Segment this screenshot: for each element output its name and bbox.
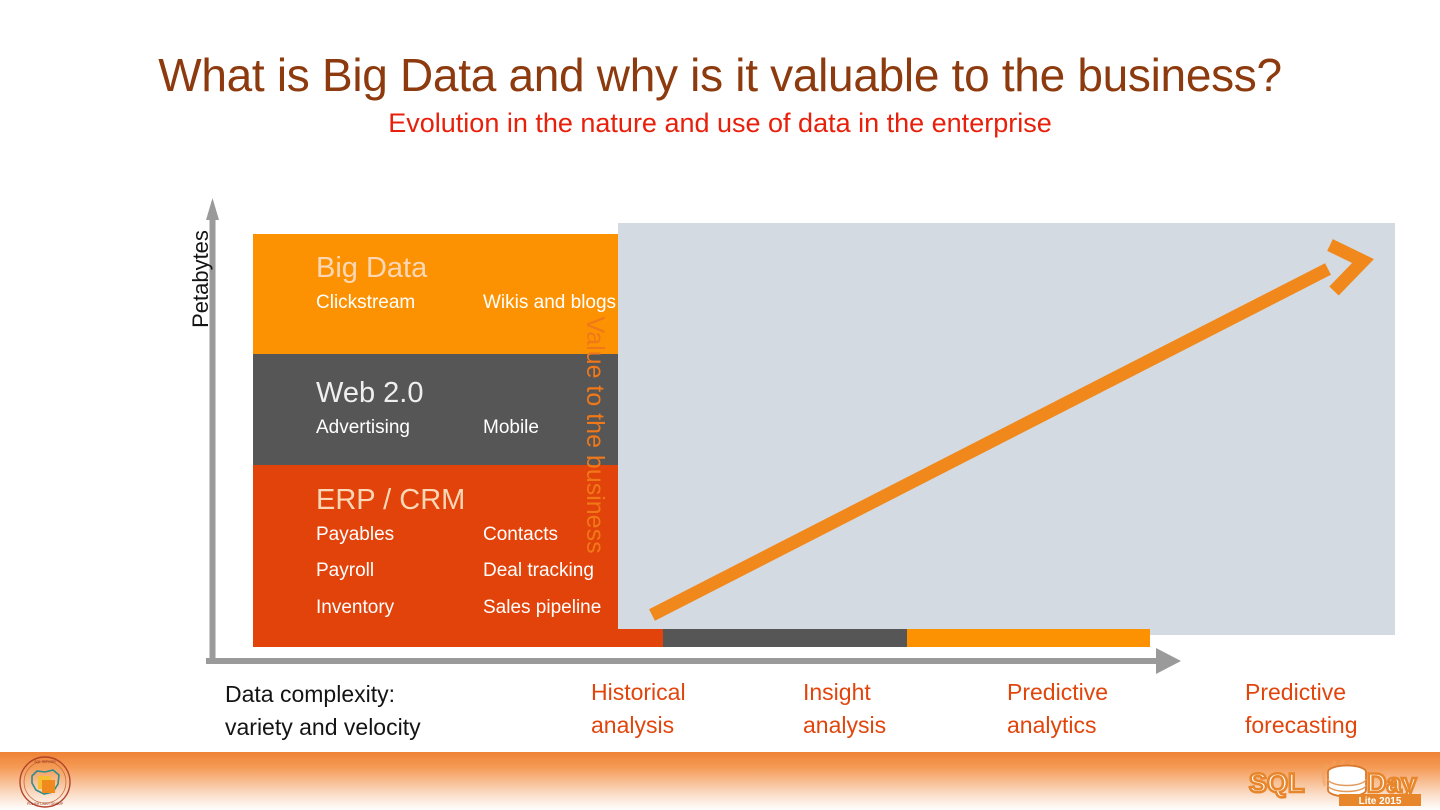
layer-heading-erp-crm: ERP / CRM [316,483,618,517]
layer-item: Contacts [483,523,558,547]
overlay-panel [618,223,1395,635]
sqlday-logo-subtext: Lite 2015 [1359,796,1402,806]
layer-web-2-0: Web 2.0 Advertising Mobile [253,354,618,465]
sqlday-lite-2015-logo-icon: SQL Day Lite 2015 [1243,758,1433,806]
layer-item: Inventory [316,596,394,620]
stage-label-predictive-analytics-line2: analytics [1007,709,1096,742]
page-title: What is Big Data and why is it valuable … [0,46,1440,104]
stage-strip-historical [253,629,663,647]
layer-heading-big-data: Big Data [316,251,618,285]
stage-label-predictive-forecasting-line1: Predictive [1245,676,1346,709]
layer-items-erp-crm: Payables Payroll Inventory Contacts Deal… [316,523,618,633]
value-to-business-label: Value to the business [580,270,610,600]
layer-items-web-2-0: Advertising Mobile [316,416,618,446]
layer-item: Mobile [483,416,539,440]
layer-item: Clickstream [316,291,415,315]
layer-item: Advertising [316,416,410,440]
stage-label-historical-line2: analysis [591,709,674,742]
page-subtitle: Evolution in the nature and use of data … [0,106,1440,140]
svg-text:POLISH USER GROUP: POLISH USER GROUP [27,802,64,806]
layer-item: Deal tracking [483,559,594,583]
layer-big-data: Big Data Clickstream Wikis and blogs [253,234,618,354]
stage-strip-predictive [907,629,1150,647]
stage-label-insight-line1: Insight [803,676,871,709]
layer-items-big-data: Clickstream Wikis and blogs [316,291,618,321]
stage-strip-insight [663,629,907,647]
layer-erp-crm: ERP / CRM Payables Payroll Inventory Con… [253,465,618,647]
svg-text:SQL: SQL [1249,768,1305,798]
layer-item: Payables [316,523,394,547]
svg-text:SQL SERVER: SQL SERVER [34,760,56,764]
stage-label-predictive-analytics-line1: Predictive [1007,676,1108,709]
x-axis-caption-line2: variety and velocity [225,711,421,744]
stage-label-historical-line1: Historical [591,676,686,709]
stage-label-predictive-forecasting-line2: forecasting [1245,709,1358,742]
polish-sql-user-group-logo-icon: SQL SERVER POLISH USER GROUP [18,756,72,808]
x-axis-caption-line1: Data complexity: [225,678,395,711]
svg-text:Day: Day [1367,768,1417,798]
stage-label-insight-line2: analysis [803,709,886,742]
y-axis-label: Petabytes [187,199,215,359]
footer-band [0,752,1440,810]
layer-heading-web-2-0: Web 2.0 [316,376,618,410]
layer-item: Payroll [316,559,374,583]
x-axis-arrow [206,648,1181,674]
slide-canvas: What is Big Data and why is it valuable … [0,0,1440,810]
